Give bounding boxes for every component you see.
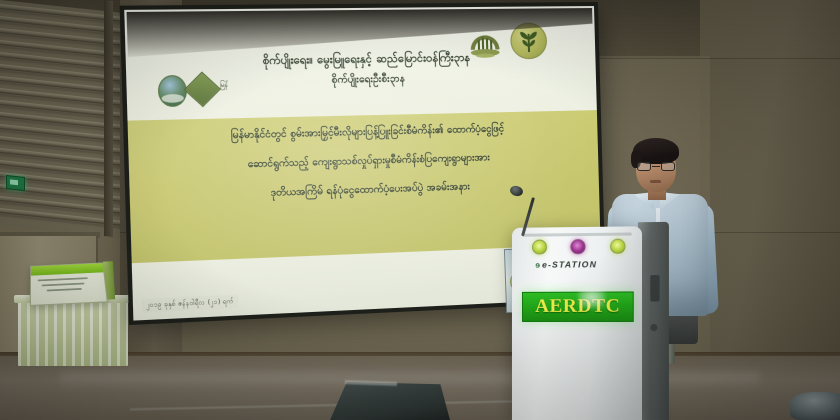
estation-brand-label: ee-STATION: [534, 259, 597, 270]
slide-body-line3: ဒုတိယအကြိမ် ရန်ပုံငွေထောက်ပံ့ပေးအပ်ပွဲ အ…: [130, 176, 600, 206]
louvered-wall-panel: [0, 0, 120, 239]
podium-side-knob: [650, 324, 657, 331]
presentation-photo-scene: မြန်: [0, 0, 840, 420]
foreground-object: [790, 392, 840, 420]
tilted-sign-board: [30, 262, 108, 306]
podium-highlight: [578, 288, 605, 308]
slide-body-line2: ဆောင်ရွက်သည့် ကျေးရွာသစ်လှုပ်ရှားမှုစီမံ…: [129, 148, 599, 176]
podium-side-panel: [638, 222, 669, 420]
slide-header-line2: စိုက်ပျိုးရေးဦးစီး၃ာန: [126, 69, 596, 92]
podium-indicator-lights: [532, 239, 626, 256]
glasses-icon: [637, 162, 675, 171]
lamp-right-icon: [610, 239, 625, 254]
sign-text-lines: [38, 277, 99, 296]
lamp-left-icon: [532, 239, 547, 254]
skirted-table: [18, 300, 128, 366]
speaker-hair: [633, 138, 679, 164]
speaking-podium: ee-STATION AERDTC: [498, 226, 669, 420]
estation-e-icon: e: [534, 260, 540, 270]
stage-monitor-speaker: [330, 382, 450, 420]
estation-text: e-STATION: [542, 259, 597, 269]
slide-date-caption: ၂၀၁၉ ခုနှစ် ဇန်နဝါရီလ (၂၁) ရက်: [142, 295, 238, 313]
lamp-center-icon: [570, 239, 585, 254]
slide-body-line1: မြန်မာနိုင်ငံတွင် စွမ်းအားမြှင့်မီးလိုမျ…: [128, 120, 598, 146]
speaker-mouth: [650, 180, 661, 183]
podium-side-vent: [650, 275, 659, 302]
exit-sign: [6, 175, 25, 191]
louver-frame: [104, 0, 113, 237]
sign-band: [31, 263, 103, 275]
slide-header-band: မြန်: [124, 6, 597, 121]
